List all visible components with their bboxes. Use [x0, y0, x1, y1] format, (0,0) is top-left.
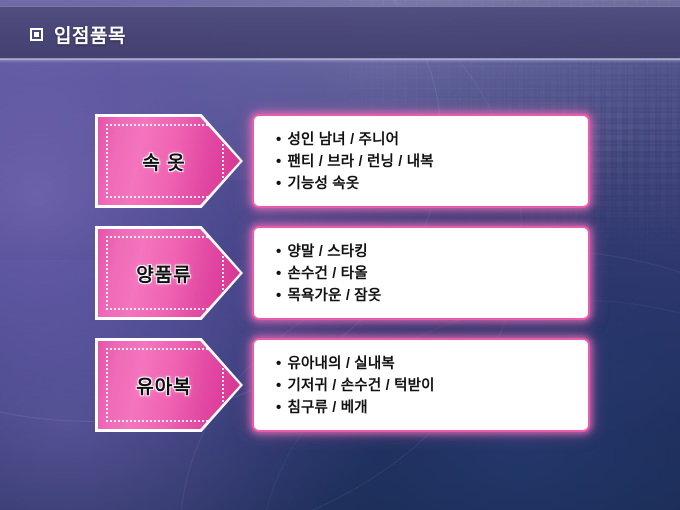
bullet-icon: • [276, 263, 281, 285]
bullet-icon: • [276, 285, 281, 307]
bullet-icon: • [276, 353, 281, 375]
list-item: •목욕가운 / 잠옷 [276, 285, 588, 307]
category-detail-panel: •유아내의 / 실내복 •기저귀 / 손수건 / 턱받이 •침구류 / 베개 [252, 338, 590, 432]
list-item-text: 유아내의 / 실내복 [287, 353, 394, 375]
category-row: 양품류 •양말 / 스타킹 •손수건 / 타올 •목욕가운 / 잠옷 [0, 226, 680, 321]
list-item: •기능성 속옷 [276, 173, 588, 195]
category-detail-panel: •양말 / 스타킹 •손수건 / 타올 •목욕가운 / 잠옷 [252, 226, 590, 320]
bullet-icon: • [276, 151, 281, 173]
list-item-text: 손수건 / 타올 [287, 263, 367, 285]
detail-list: •양말 / 스타킹 •손수건 / 타올 •목욕가운 / 잠옷 [254, 228, 588, 307]
category-tag-arrow[interactable]: 속 옷 [95, 114, 243, 208]
list-item: •기저귀 / 손수건 / 턱받이 [276, 375, 588, 397]
list-item-text: 기능성 속옷 [287, 173, 359, 195]
category-tag-label: 속 옷 [98, 148, 230, 175]
category-tag-arrow[interactable]: 양품류 [95, 226, 243, 320]
list-item: •유아내의 / 실내복 [276, 353, 588, 375]
category-tag-fill: 속 옷 [98, 117, 240, 205]
slide-canvas: 입점품목 속 옷 •성인 남녀 / 주니어 •팬티 / 브라 / 런닝 / 내복… [0, 0, 680, 510]
category-row: 유아복 •유아내의 / 실내복 •기저귀 / 손수건 / 턱받이 •침구류 / … [0, 338, 680, 433]
list-item-text: 양말 / 스타킹 [287, 241, 367, 263]
list-item: •팬티 / 브라 / 런닝 / 내복 [276, 151, 588, 173]
list-item-text: 기저귀 / 손수건 / 턱받이 [287, 375, 434, 397]
detail-list: •성인 남녀 / 주니어 •팬티 / 브라 / 런닝 / 내복 •기능성 속옷 [254, 116, 588, 195]
list-item-text: 목욕가운 / 잠옷 [287, 285, 381, 307]
list-item-text: 팬티 / 브라 / 런닝 / 내복 [287, 151, 433, 173]
bullet-icon: • [276, 241, 281, 263]
detail-list: •유아내의 / 실내복 •기저귀 / 손수건 / 턱받이 •침구류 / 베개 [254, 340, 588, 419]
category-tag-label: 양품류 [98, 260, 230, 287]
category-tag-label: 유아복 [98, 372, 230, 399]
content-rows: 속 옷 •성인 남녀 / 주니어 •팬티 / 브라 / 런닝 / 내복 •기능성… [0, 0, 680, 510]
list-item-text: 성인 남녀 / 주니어 [287, 129, 399, 151]
category-detail-panel: •성인 남녀 / 주니어 •팬티 / 브라 / 런닝 / 내복 •기능성 속옷 [252, 114, 590, 208]
list-item-text: 침구류 / 베개 [287, 397, 367, 419]
list-item: •침구류 / 베개 [276, 397, 588, 419]
category-row: 속 옷 •성인 남녀 / 주니어 •팬티 / 브라 / 런닝 / 내복 •기능성… [0, 114, 680, 209]
list-item: •양말 / 스타킹 [276, 241, 588, 263]
list-item: •성인 남녀 / 주니어 [276, 129, 588, 151]
bullet-icon: • [276, 375, 281, 397]
bullet-icon: • [276, 397, 281, 419]
category-tag-fill: 유아복 [98, 341, 240, 429]
bullet-icon: • [276, 129, 281, 151]
bullet-icon: • [276, 173, 281, 195]
category-tag-fill: 양품류 [98, 229, 240, 317]
category-tag-arrow[interactable]: 유아복 [95, 338, 243, 432]
list-item: •손수건 / 타올 [276, 263, 588, 285]
